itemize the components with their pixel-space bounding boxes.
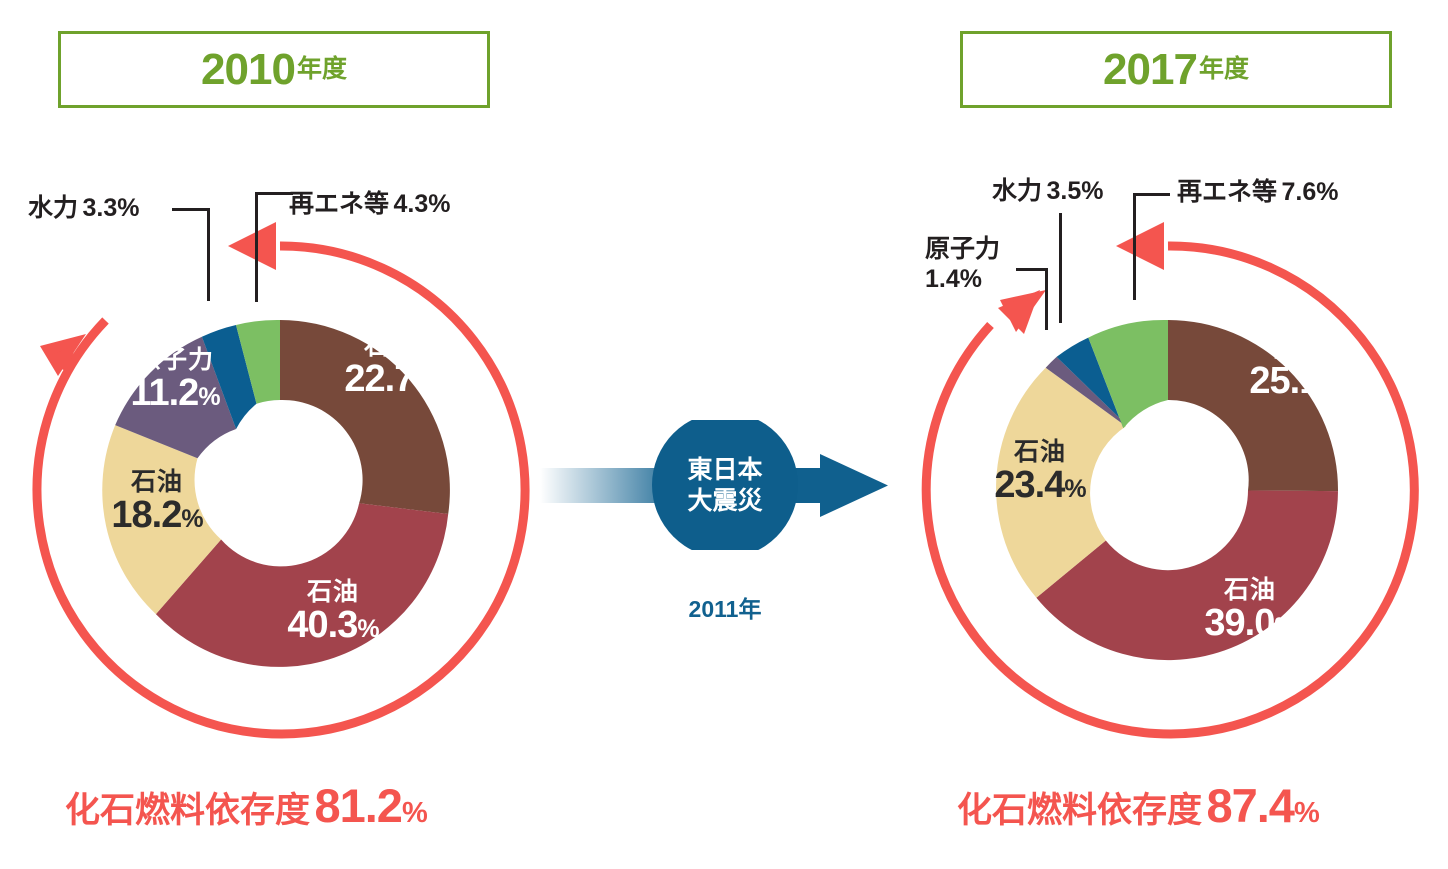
slice-label-oil-2017-value: 39.0 — [1204, 602, 1274, 644]
infographic-root: 2010 年度 2017 年度 — [0, 0, 1448, 869]
leader-line-renew-2010-v — [255, 192, 258, 302]
quake-badge-line2: 大震災 — [687, 487, 762, 515]
callout-hydro-2017-name: 水力 — [992, 177, 1042, 205]
callout-renewable-2017-name: 再エネ等 — [1177, 178, 1277, 206]
year-box-2010: 2010 年度 — [58, 31, 490, 108]
quake-badge-label: 東日本 大震災 — [645, 455, 805, 518]
leader-line-hydro-2010-h — [172, 208, 210, 211]
slice-label-oil2-2017-pct: % — [1064, 475, 1085, 503]
year-2017-suffix: 年度 — [1197, 57, 1249, 82]
summary-2017-pct: % — [1294, 797, 1320, 829]
callout-nuclear-2017-value: 1.4% — [925, 265, 982, 293]
slice-label-coal-2017-value: 25.1 — [1249, 360, 1319, 402]
year-box-2017: 2017 年度 — [960, 31, 1392, 108]
callout-hydro-2010-value: 3.3% — [82, 194, 139, 222]
leader-line-nuclear-2017-v — [1045, 268, 1048, 330]
slice-label-nuclear-2010-name: 原子力 — [110, 348, 240, 374]
leader-line-renew-2017-v — [1133, 193, 1136, 300]
slice-label-oil2-2017-value: 23.4 — [994, 464, 1064, 506]
slice-label-oil2-2010-value: 18.2 — [111, 494, 181, 536]
slice-label-oil-2010-name: 石油 — [268, 580, 398, 606]
slice-label-oil-2010-pct: % — [357, 615, 378, 643]
slice-label-oil-2017-pct: % — [1274, 613, 1295, 641]
summary-2017-value: 87.4 — [1206, 779, 1293, 832]
summary-2010-pct: % — [402, 797, 428, 829]
leader-line-renew-2017-h — [1133, 193, 1170, 196]
summary-2017-label: 化石燃料依存度 — [957, 791, 1202, 830]
arrow-head — [820, 454, 888, 517]
callout-renewable-2017-value: 7.6% — [1281, 178, 1338, 206]
leader-line-hydro-2010-v — [207, 208, 210, 301]
slice-label-nuclear-2010-value: 11.2 — [130, 372, 198, 414]
slice-label-coal-2017-pct: % — [1319, 371, 1340, 399]
summary-2010: 化石燃料依存度 81.2% — [65, 778, 428, 833]
callout-renewable-2010-name: 再エネ等 — [289, 190, 389, 218]
callout-renewable-2010-value: 4.3% — [393, 190, 450, 218]
slice-label-coal-2010-name: 石炭 — [325, 334, 455, 360]
callout-nuclear-2017-name: 原子力 — [925, 235, 1000, 263]
callout-hydro-2017-value: 3.5% — [1046, 177, 1103, 205]
leader-line-nuclear-2017-h — [1016, 268, 1048, 271]
summary-2010-value: 81.2 — [314, 779, 401, 832]
slice-label-oil-2010: 石油 40.3% — [268, 580, 398, 644]
slice-label-oil-2017: 石油 39.0% — [1185, 578, 1315, 642]
slice-label-oil-2017-name: 石油 — [1185, 578, 1315, 604]
quake-badge-line1: 東日本 — [687, 456, 762, 484]
slice-label-oil2-2017: 石油 23.4% — [975, 440, 1105, 504]
slice-label-oil2-2010-pct: % — [181, 505, 202, 533]
quake-year-value: 2011年 — [689, 596, 762, 622]
slice-label-coal-2017: 石炭 25.1% — [1230, 336, 1360, 400]
donut-chart-2010 — [0, 150, 560, 770]
callout-hydro-2010-name: 水力 — [28, 194, 78, 222]
year-2017-value: 2017 — [1103, 48, 1197, 92]
slice-label-coal-2017-name: 石炭 — [1230, 336, 1360, 362]
leader-line-renew-2010-h — [255, 192, 293, 195]
slice-label-coal-2010-pct: % — [414, 369, 435, 397]
slice-label-nuclear-2010: 原子力 11.2% — [110, 348, 240, 412]
slice-label-oil2-2010-name: 石油 — [92, 470, 222, 496]
callout-hydro-2017: 水力 3.5% — [992, 177, 1103, 207]
callout-nuclear-2017: 原子力 1.4% — [925, 235, 1000, 294]
summary-2010-label: 化石燃料依存度 — [65, 791, 310, 830]
callout-renewable-2017: 再エネ等 7.6% — [1177, 178, 1338, 208]
slice-label-oil2-2017-name: 石油 — [975, 440, 1105, 466]
slice-label-oil2-2010: 石油 18.2% — [92, 470, 222, 534]
slice-label-nuclear-2010-pct: % — [198, 383, 219, 411]
slice-label-coal-2010: 石炭 22.7% — [325, 334, 455, 398]
year-2010-suffix: 年度 — [295, 57, 347, 82]
slice-label-oil-2010-value: 40.3 — [287, 604, 357, 646]
year-2010-value: 2010 — [201, 48, 295, 92]
callout-renewable-2010: 再エネ等 4.3% — [289, 190, 450, 220]
summary-2017: 化石燃料依存度 87.4% — [957, 778, 1320, 833]
leader-line-hydro-2017-v — [1059, 213, 1062, 323]
slice-label-coal-2010-value: 22.7 — [344, 358, 414, 400]
quake-year-label: 2011年 — [645, 590, 805, 624]
callout-hydro-2010: 水力 3.3% — [28, 194, 139, 224]
